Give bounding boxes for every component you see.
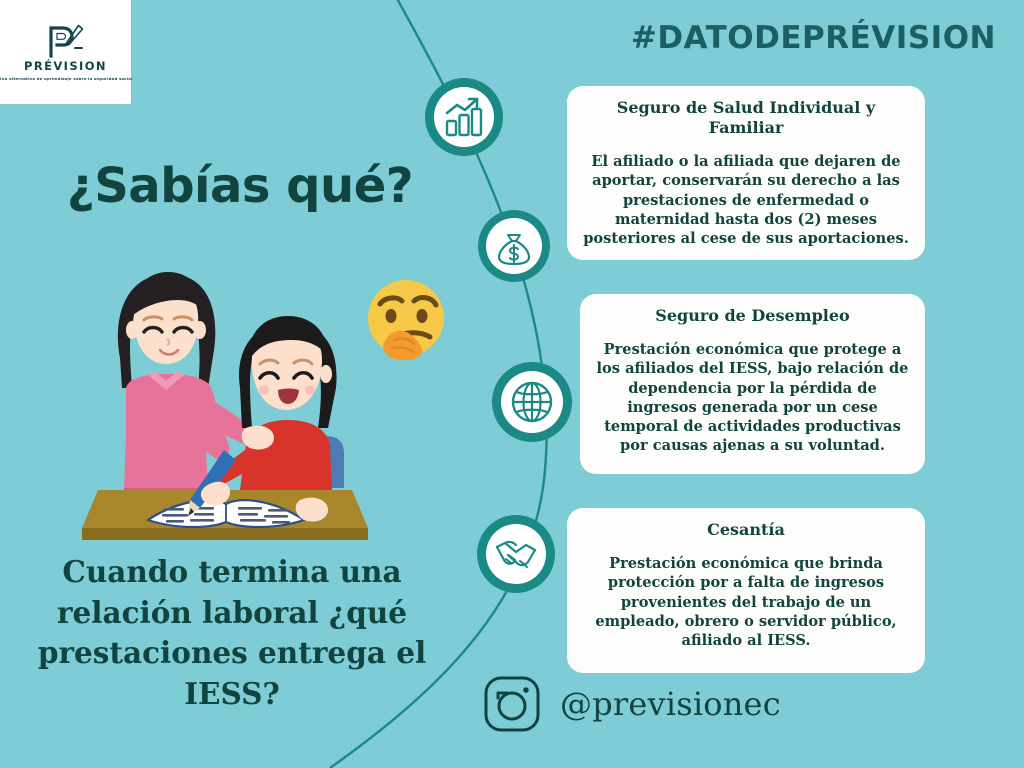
instagram-icon[interactable]: [482, 674, 542, 734]
bar-chart-growth-icon: [442, 95, 486, 139]
card-body: Prestación económica que brinda protecci…: [583, 554, 909, 650]
handshake-icon: [494, 532, 538, 576]
timeline-node-3: [492, 362, 572, 442]
icon-disc: [486, 218, 542, 274]
card-body: Prestación económica que protege a los a…: [596, 340, 909, 456]
info-card-1: Seguro de Salud Individual y Familiar El…: [567, 86, 925, 260]
timeline-node-2: [478, 210, 550, 282]
timeline-node-4: [477, 515, 555, 593]
instagram-row[interactable]: @previsionec: [482, 674, 781, 734]
card-title: Cesantía: [583, 520, 909, 540]
infographic-poster: PRÉVISION Una alternativa de aprendizaje…: [0, 0, 1024, 768]
brand-logo: PRÉVISION Una alternativa de aprendizaje…: [0, 0, 131, 104]
question-text: Cuando termina una relación laboral ¿qué…: [32, 552, 432, 715]
globe-icon: [509, 379, 555, 425]
card-title: Seguro de Salud Individual y Familiar: [583, 98, 909, 138]
info-card-2: Seguro de Desempleo Prestación económica…: [580, 294, 925, 474]
info-card-3: Cesantía Prestación económica que brinda…: [567, 508, 925, 673]
icon-disc: [501, 371, 563, 433]
logo-tagline: Una alternativa de aprendizaje sobre la …: [0, 76, 133, 81]
instagram-handle[interactable]: @previsionec: [560, 685, 781, 723]
icon-disc: [434, 87, 494, 147]
mother-child-homework-illustration: [78, 238, 368, 543]
p-pen-logo-icon: [45, 23, 87, 59]
logo-name: PRÉVISION: [24, 61, 107, 73]
page-title: ¿Sabías qué?: [30, 158, 450, 214]
hashtag-title: #DATODEPRÉVISION: [631, 20, 996, 56]
card-title: Seguro de Desempleo: [596, 306, 909, 326]
money-bag-icon: [494, 226, 534, 266]
thinking-face-emoji: [360, 274, 452, 366]
icon-disc: [486, 524, 546, 584]
timeline-node-1: [425, 78, 503, 156]
card-body: El afiliado o la afiliada que dejaren de…: [583, 152, 909, 248]
